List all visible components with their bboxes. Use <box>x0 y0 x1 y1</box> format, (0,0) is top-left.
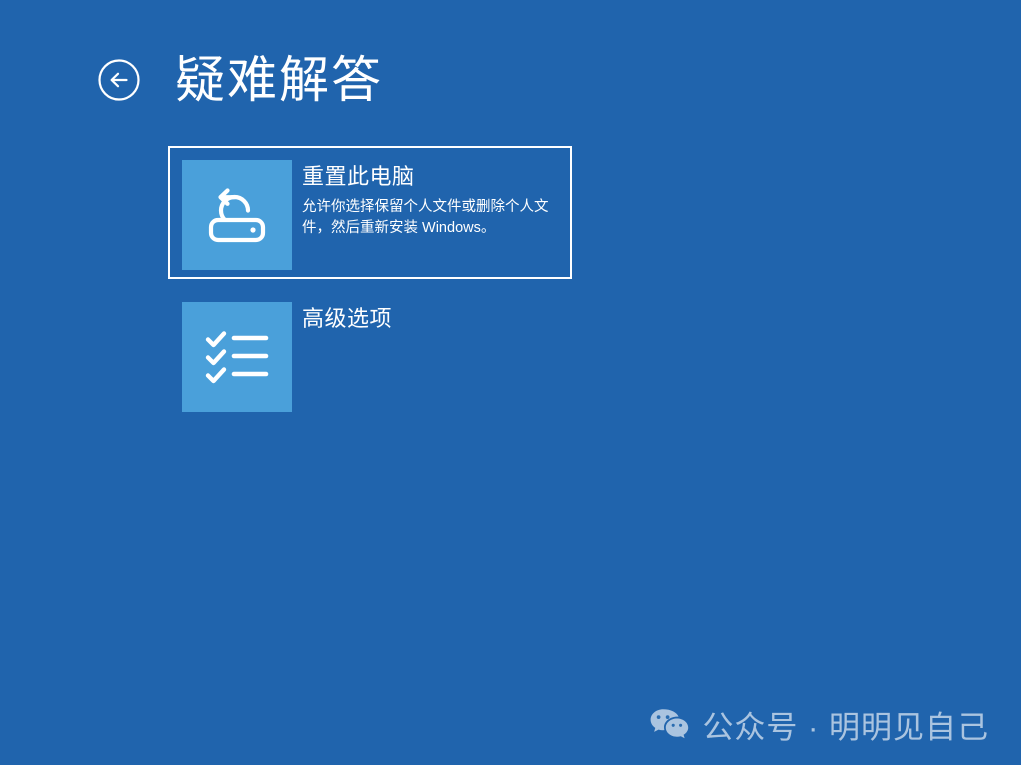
option-advanced-options[interactable]: 高级选项 <box>168 288 572 421</box>
back-button[interactable] <box>96 57 142 103</box>
page-title: 疑难解答 <box>175 55 383 105</box>
option-title: 重置此电脑 <box>302 164 552 191</box>
troubleshoot-options-list: 重置此电脑 允许你选择保留个人文件或删除个人文件，然后重新安装 Windows。 <box>168 146 572 421</box>
watermark: 公众号 · 明明见自己 <box>648 702 989 747</box>
watermark-text: 公众号 · 明明见自己 <box>702 702 989 747</box>
option-icon-wrapper <box>182 302 292 412</box>
option-text-wrapper: 重置此电脑 允许你选择保留个人文件或删除个人文件，然后重新安装 Windows。 <box>302 160 552 240</box>
option-title: 高级选项 <box>302 306 392 333</box>
option-icon-wrapper <box>182 160 292 270</box>
option-text-wrapper: 高级选项 <box>302 302 392 339</box>
page-header: 疑难解答 <box>96 50 383 110</box>
reset-pc-icon <box>203 184 271 246</box>
checklist-icon <box>204 329 270 385</box>
option-spacer <box>168 279 572 288</box>
back-arrow-circle-icon <box>96 57 142 103</box>
option-reset-this-pc[interactable]: 重置此电脑 允许你选择保留个人文件或删除个人文件，然后重新安装 Windows。 <box>168 146 572 279</box>
option-description: 允许你选择保留个人文件或删除个人文件，然后重新安装 Windows。 <box>302 197 552 240</box>
wechat-icon <box>648 704 690 746</box>
